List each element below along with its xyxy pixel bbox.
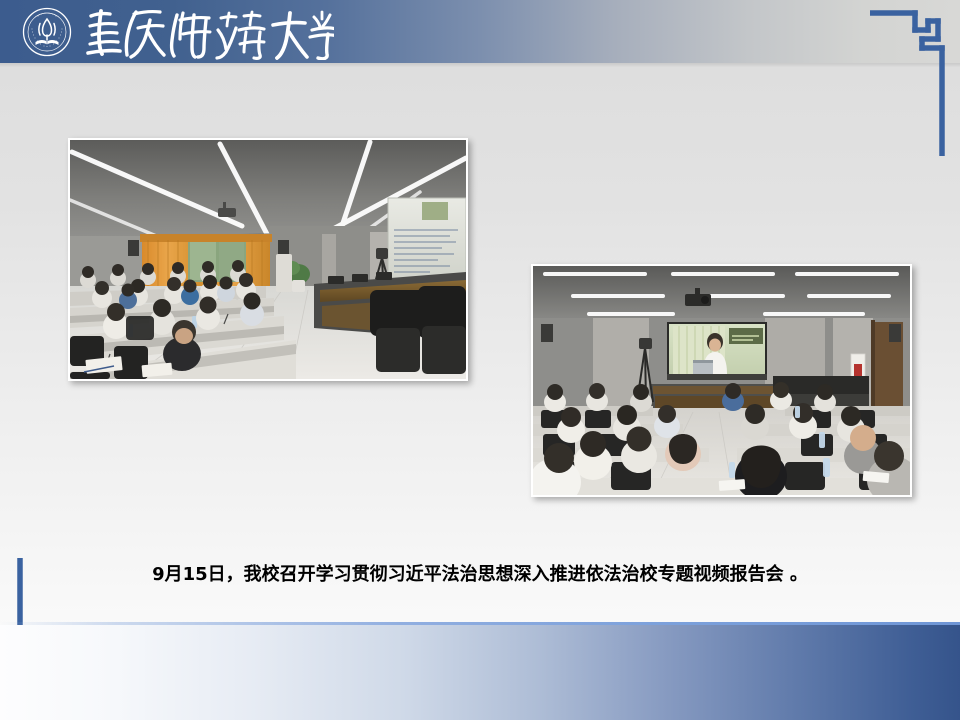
- university-emblem-icon: [22, 7, 72, 57]
- conference-room-audience-photo: [68, 138, 468, 381]
- presentation-slide: 9月15日，我校召开学习贯彻习近平法治思想深入推进依法治校专题视频报告会 。: [0, 0, 960, 720]
- footer-band: [0, 625, 960, 720]
- header-underline: [0, 63, 960, 67]
- university-wordmark: [84, 4, 334, 60]
- video-conference-screen-photo: [531, 264, 912, 497]
- slide-caption: 9月15日，我校召开学习贯彻习近平法治思想深入推进依法治校专题视频报告会 。: [0, 562, 960, 588]
- chinese-key-pattern-corner-icon: [870, 8, 948, 156]
